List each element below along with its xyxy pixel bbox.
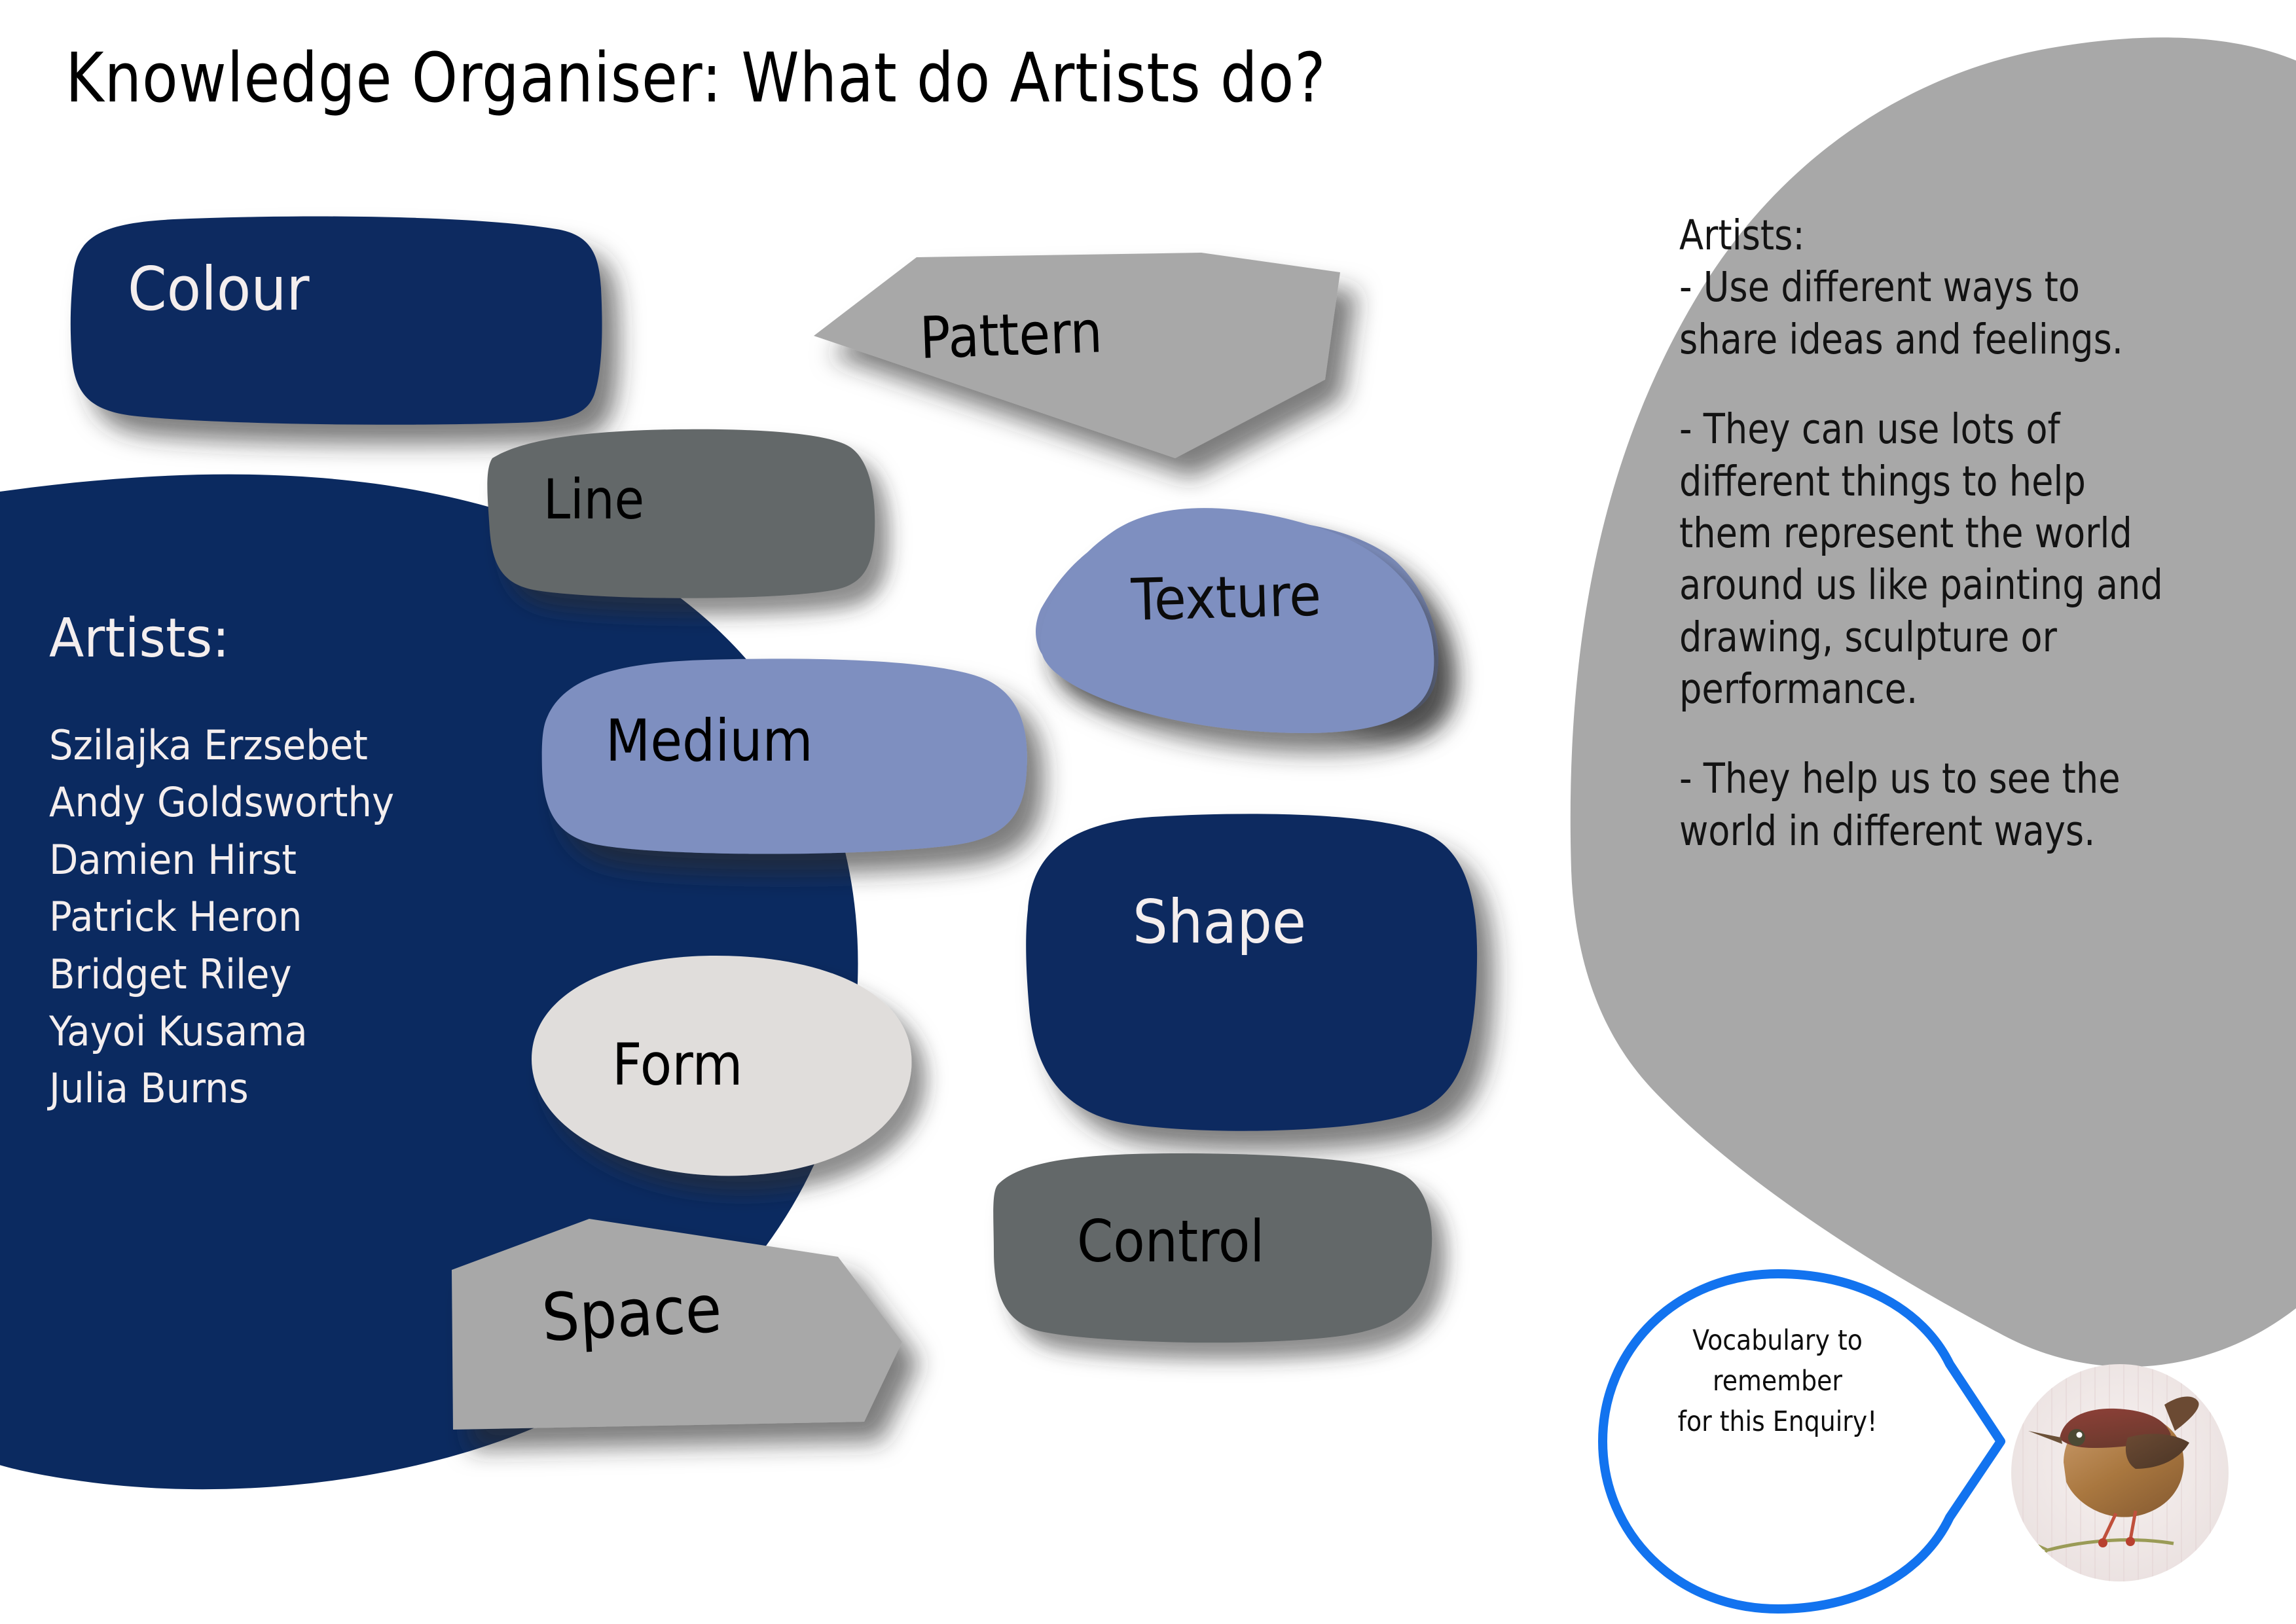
concept-label-line[interactable]: Line <box>543 467 644 532</box>
concept-label-medium[interactable]: Medium <box>606 707 813 774</box>
vocab-bubble-text: Vocabulary to remember for this Enquiry! <box>1624 1321 1931 1443</box>
info-panel: Artists: - Use different ways to share i… <box>1679 209 2269 857</box>
bird-badge <box>2011 1364 2229 1581</box>
list-item: Andy Goldsworthy <box>49 774 512 831</box>
artists-panel: Artists: Szilajka Erzsebet Andy Goldswor… <box>49 612 547 1117</box>
list-item: Szilajka Erzsebet <box>49 717 512 774</box>
list-item: Julia Burns <box>49 1060 512 1117</box>
vocab-line: for this Enquiry! <box>1642 1402 1913 1443</box>
list-item: Patrick Heron <box>49 888 512 945</box>
info-panel-bullet: - They help us to see the world in diffe… <box>1679 753 2186 857</box>
info-panel-bullet: - Use different ways to share ideas and … <box>1679 261 2186 365</box>
artists-name-list: Szilajka Erzsebet Andy Goldsworthy Damie… <box>49 717 547 1117</box>
spacer <box>1679 365 2269 403</box>
list-item: Yayoi Kusama <box>49 1003 512 1060</box>
concept-label-shape[interactable]: Shape <box>1133 887 1306 957</box>
concept-label-colour[interactable]: Colour <box>128 254 310 324</box>
concept-label-pattern[interactable]: Pattern <box>919 298 1103 372</box>
vocab-line: remember <box>1642 1362 1913 1402</box>
concept-label-control[interactable]: Control <box>1077 1208 1264 1275</box>
knowledge-organiser-page: Knowledge Organiser: What do Artists do? <box>0 0 2296 1624</box>
artists-panel-heading: Artists: <box>49 612 522 666</box>
info-panel-heading: Artists: <box>1679 209 2186 261</box>
spacer <box>1679 715 2269 753</box>
shape-shape <box>1026 814 1477 1130</box>
concept-label-texture[interactable]: Texture <box>1131 561 1322 634</box>
concept-label-form[interactable]: Form <box>612 1031 743 1098</box>
list-item: Bridget Riley <box>49 946 512 1003</box>
concept-label-space[interactable]: Space <box>540 1271 723 1356</box>
info-panel-bullet: - They can use lots of different things … <box>1679 403 2186 715</box>
list-item: Damien Hirst <box>49 831 512 888</box>
vocab-line: Vocabulary to <box>1642 1321 1913 1362</box>
